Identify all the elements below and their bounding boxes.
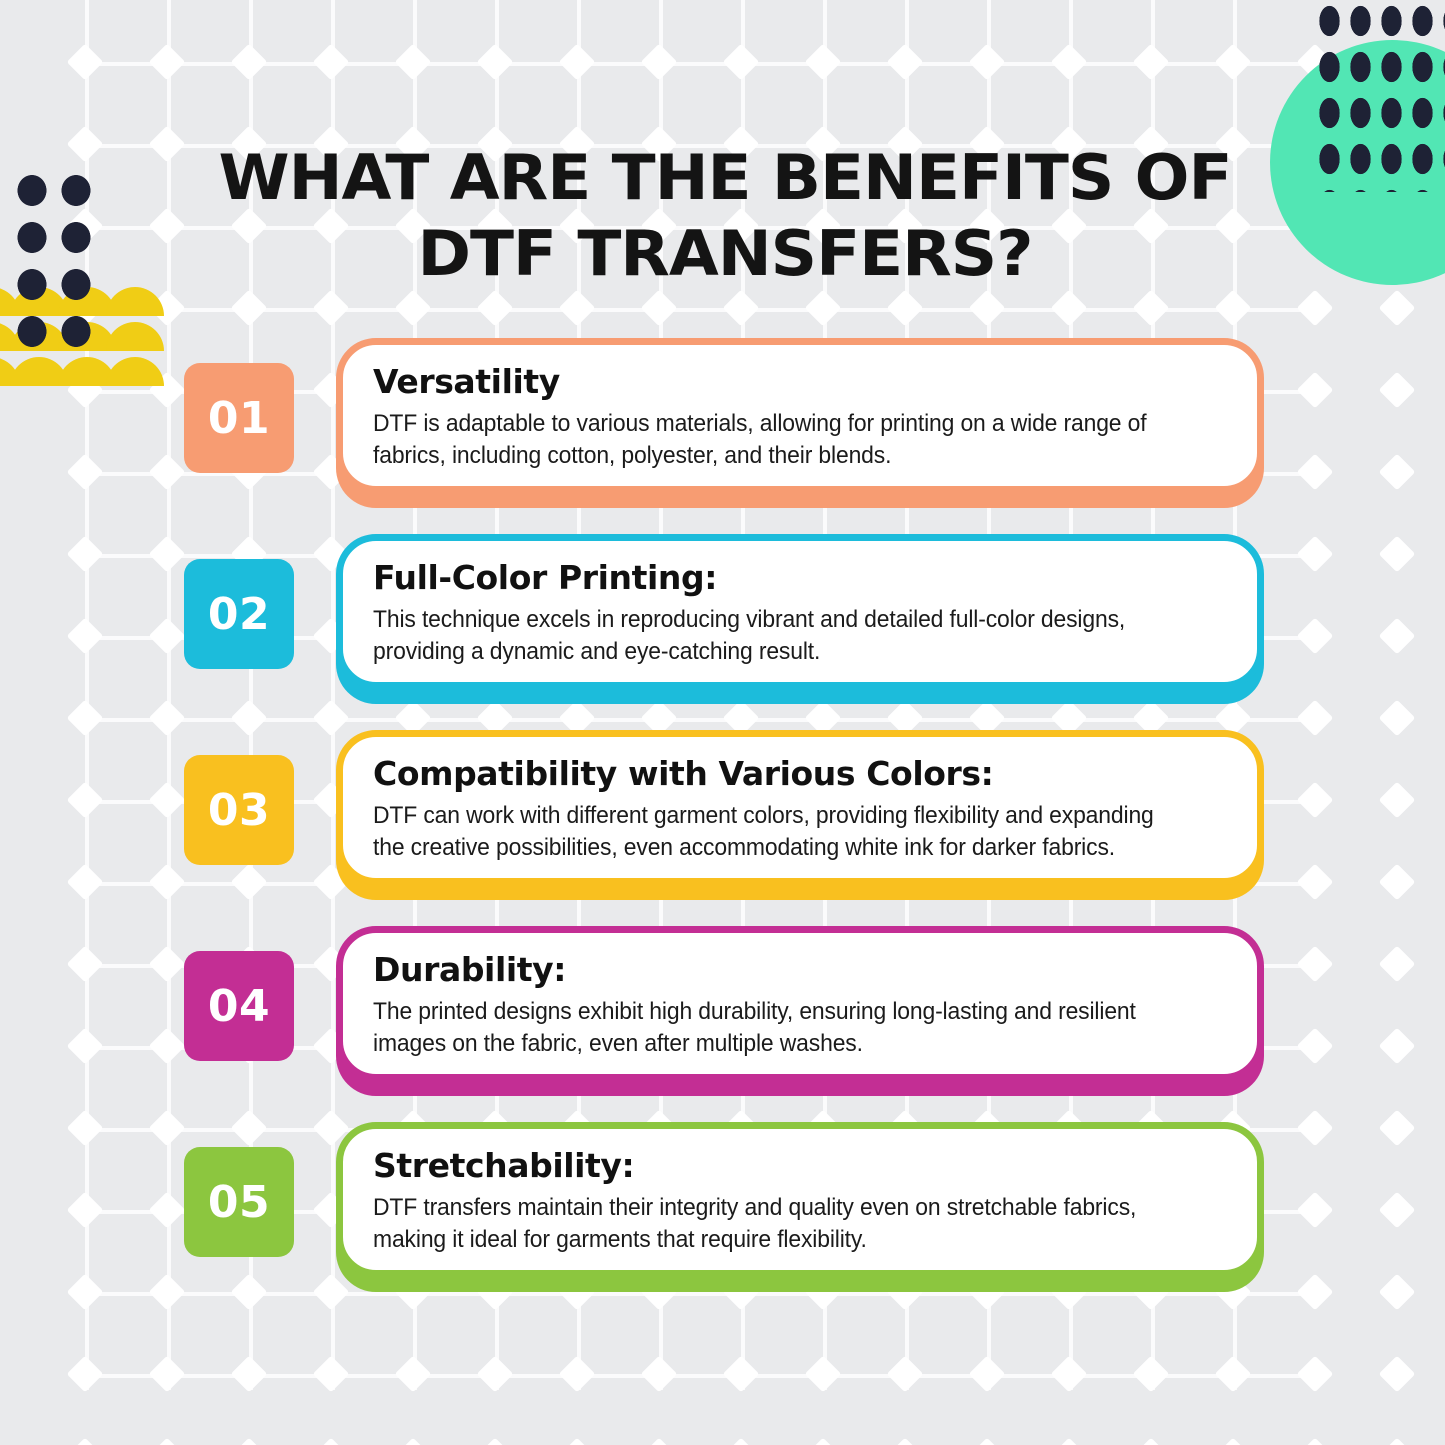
benefit-card[interactable]: VersatilityDTF is adaptable to various m…	[336, 338, 1264, 508]
benefit-title: Stretchability:	[373, 1145, 1227, 1186]
benefit-number: 03	[208, 785, 270, 836]
benefit-number: 02	[208, 589, 270, 640]
benefit-row: 04Durability:The printed designs exhibit…	[184, 926, 1264, 1122]
dot-grid-icon-left	[8, 163, 98, 363]
benefit-card[interactable]: Durability:The printed designs exhibit h…	[336, 926, 1264, 1096]
benefit-row: 01VersatilityDTF is adaptable to various…	[184, 338, 1264, 534]
benefit-title: Compatibility with Various Colors:	[373, 753, 1227, 794]
benefit-number-badge: 01	[184, 363, 294, 473]
benefit-number-badge: 03	[184, 755, 294, 865]
benefit-row: 05Stretchability:DTF transfers maintain …	[184, 1122, 1264, 1318]
benefit-title: Durability:	[373, 949, 1227, 990]
benefit-row: 03Compatibility with Various Colors:DTF …	[184, 730, 1264, 926]
benefit-number: 01	[208, 393, 270, 444]
dot-grid-icon-top-right	[1310, 0, 1445, 192]
benefit-card-body: VersatilityDTF is adaptable to various m…	[336, 338, 1264, 493]
benefit-card-body: Compatibility with Various Colors:DTF ca…	[336, 730, 1264, 885]
benefit-description: The printed designs exhibit high durabil…	[373, 996, 1189, 1060]
benefit-description: DTF transfers maintain their integrity a…	[373, 1192, 1189, 1256]
benefits-list: 01VersatilityDTF is adaptable to various…	[184, 338, 1264, 1318]
benefit-row: 02Full-Color Printing:This technique exc…	[184, 534, 1264, 730]
benefit-card-body: Full-Color Printing:This technique excel…	[336, 534, 1264, 689]
benefit-number-badge: 04	[184, 951, 294, 1061]
benefit-title: Full-Color Printing:	[373, 557, 1227, 598]
benefit-number: 05	[208, 1177, 270, 1228]
benefit-number-badge: 05	[184, 1147, 294, 1257]
benefit-number: 04	[208, 981, 270, 1032]
page-title: WHAT ARE THE BENEFITS OF DTF TRANSFERS?	[158, 140, 1292, 292]
benefit-number-badge: 02	[184, 559, 294, 669]
benefit-description: This technique excels in reproducing vib…	[373, 604, 1189, 668]
benefit-description: DTF can work with different garment colo…	[373, 800, 1189, 864]
benefit-title: Versatility	[373, 361, 1227, 402]
benefit-card-body: Durability:The printed designs exhibit h…	[336, 926, 1264, 1081]
infographic-poster: WHAT ARE THE BENEFITS OF DTF TRANSFERS? …	[0, 0, 1445, 1445]
benefit-card[interactable]: Full-Color Printing:This technique excel…	[336, 534, 1264, 704]
benefit-card-body: Stretchability:DTF transfers maintain th…	[336, 1122, 1264, 1277]
benefit-description: DTF is adaptable to various materials, a…	[373, 408, 1189, 472]
benefit-card[interactable]: Stretchability:DTF transfers maintain th…	[336, 1122, 1264, 1292]
benefit-card[interactable]: Compatibility with Various Colors:DTF ca…	[336, 730, 1264, 900]
